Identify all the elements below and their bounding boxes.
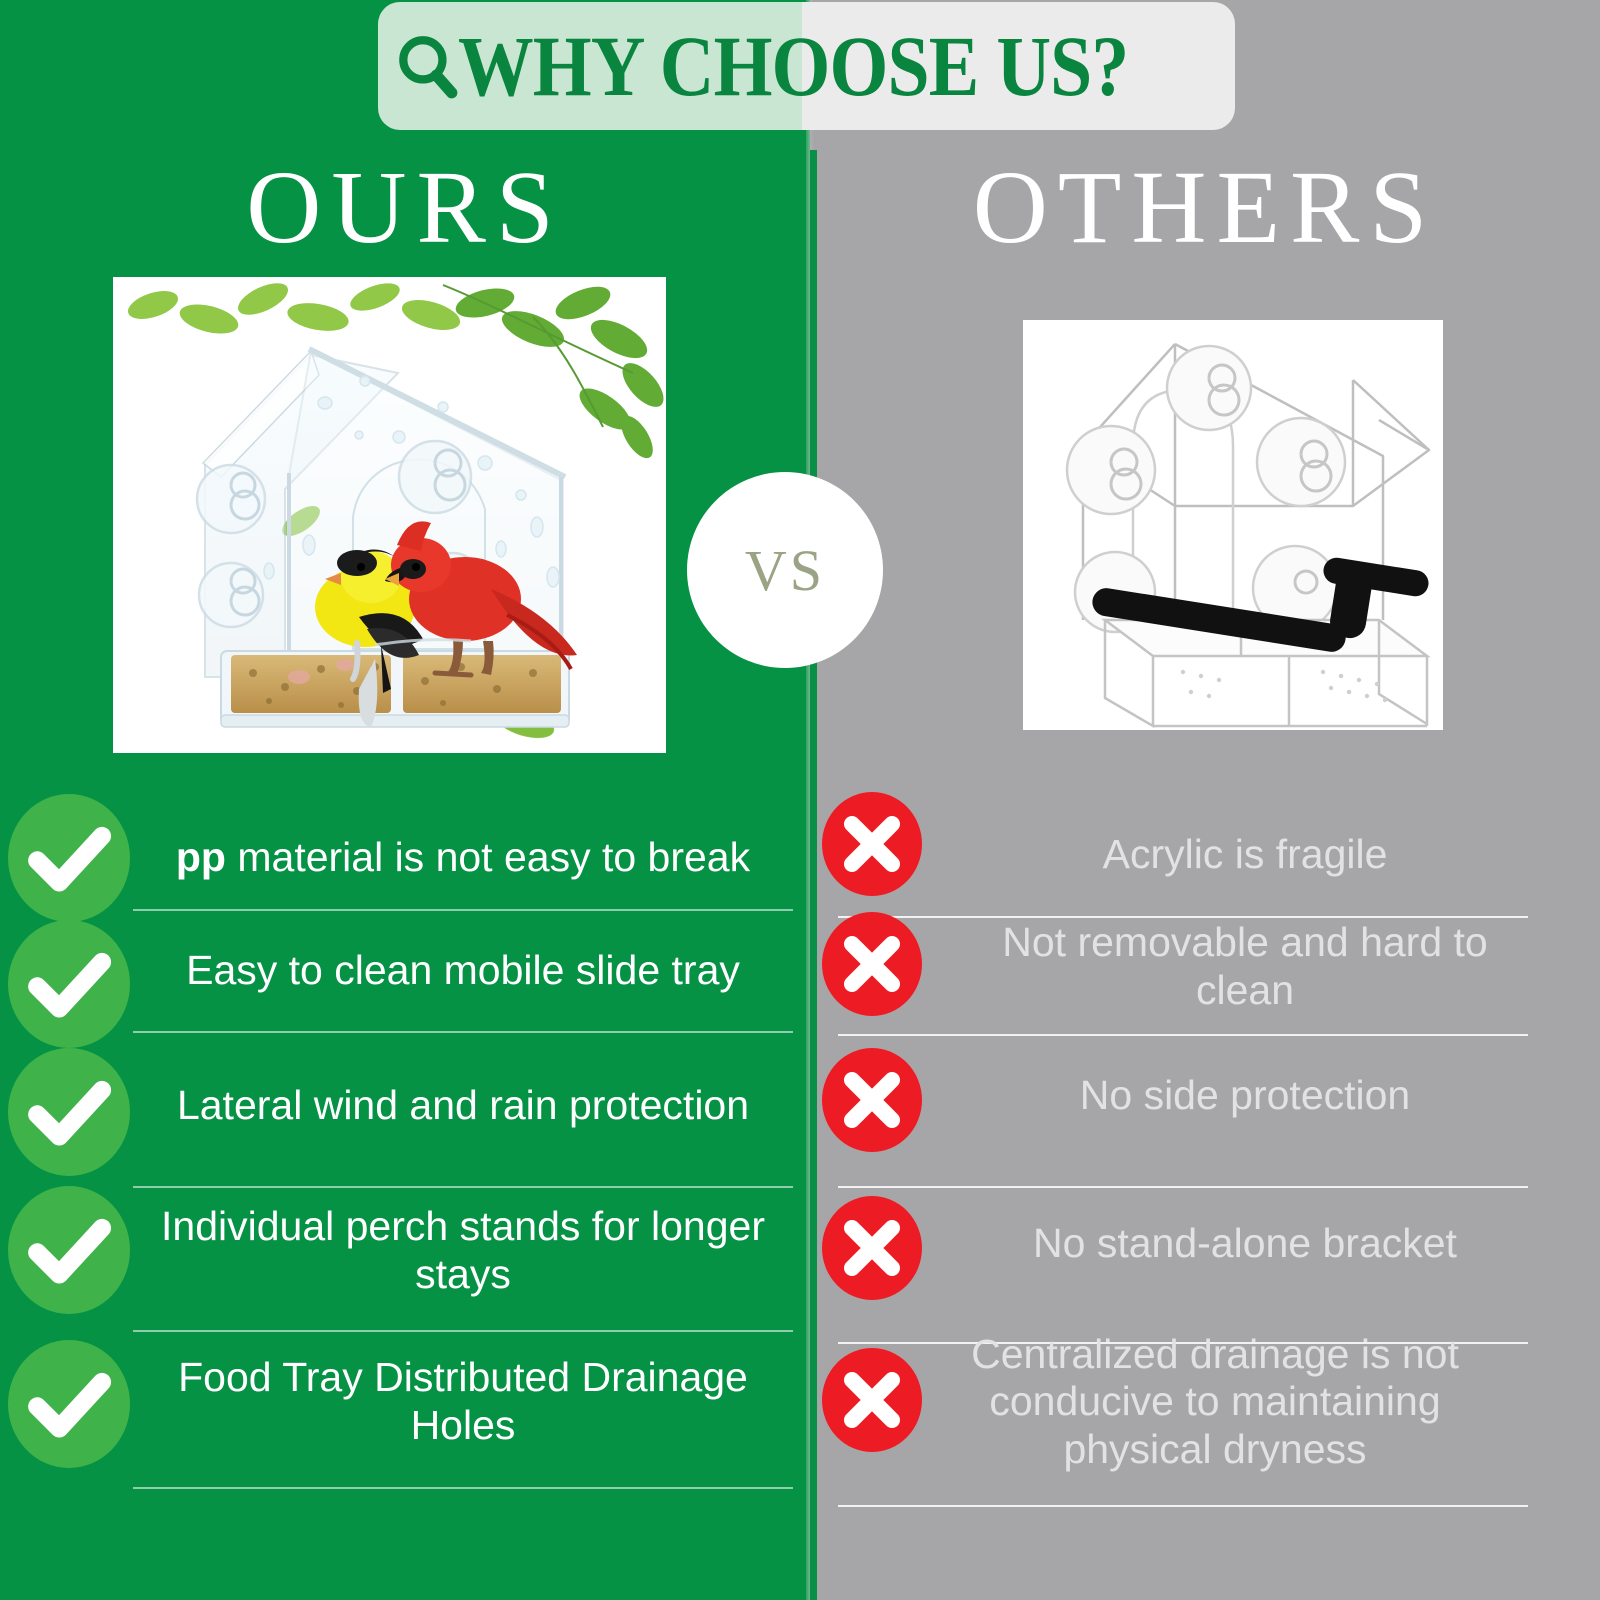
banner-content: WHY CHOOSE US? [394,23,1220,109]
check-circle-icon [8,920,130,1048]
ours-feature-4: Individual perch stands for longer stays [133,1194,793,1308]
feature-rows: pp material is not easy to break Acrylic… [0,0,1600,1600]
x-circle-icon [822,792,922,896]
infographic-canvas: WHY CHOOSE US? OURS OTHERS [0,0,1600,1600]
others-feature-1: Acrylic is fragile [935,810,1555,900]
others-feature-5: Centralized drainage is not conducive to… [935,1318,1495,1486]
ours-feature-1-text: material is not easy to break [226,834,750,880]
others-feature-4: No stand-alone bracket [935,1198,1555,1290]
ours-feature-3: Lateral wind and rain protection [133,1048,793,1164]
others-divider-5 [838,1505,1528,1507]
ours-divider-1 [133,909,793,911]
ours-divider-3 [133,1186,793,1188]
check-circle-icon [8,794,130,922]
others-divider-2 [838,1034,1528,1036]
ours-feature-1-bold: pp [176,834,226,880]
magnifier-icon [394,31,460,101]
check-circle-icon [8,1048,130,1176]
x-circle-icon [822,912,922,1016]
check-circle-icon [8,1340,130,1468]
others-feature-2: Not removable and hard to clean [955,912,1535,1022]
header-title: WHY CHOOSE US? [458,23,1128,109]
others-divider-3 [838,1186,1528,1188]
vs-badge: VS [687,472,883,668]
x-circle-icon [822,1348,922,1452]
ours-divider-2 [133,1031,793,1033]
ours-divider-4 [133,1330,793,1332]
ours-feature-2: Easy to clean mobile slide tray [133,928,793,1014]
x-circle-icon [822,1196,922,1300]
x-circle-icon [822,1048,922,1152]
ours-divider-5 [133,1487,793,1489]
ours-feature-5: Food Tray Distributed Drainage Holes [133,1342,793,1462]
header-banner: WHY CHOOSE US? [378,2,1235,130]
ours-feature-1: pp material is not easy to break [133,810,793,906]
check-circle-icon [8,1186,130,1314]
others-feature-3: No side protection [935,1050,1555,1142]
vs-label: VS [745,537,825,604]
